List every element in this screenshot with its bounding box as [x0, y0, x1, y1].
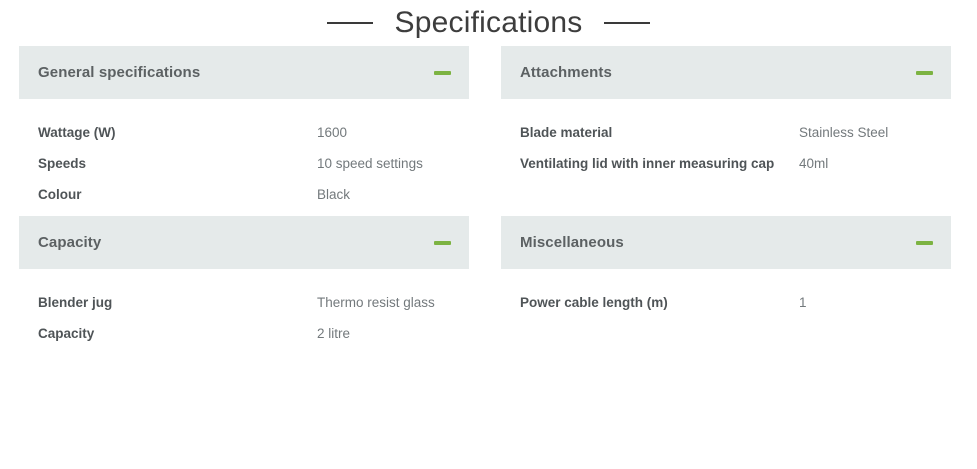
page-title: Specifications: [395, 6, 583, 40]
panel-title-attachments: Attachments: [520, 64, 612, 81]
minus-icon[interactable]: [916, 71, 933, 75]
panel-body-general-specifications: Wattage (W) 1600 Speeds 10 speed setting…: [19, 99, 469, 212]
minus-icon[interactable]: [916, 241, 933, 245]
panel-header-miscellaneous[interactable]: Miscellaneous: [501, 216, 951, 269]
spec-panel-miscellaneous: Miscellaneous Power cable length (m) 1: [501, 216, 951, 351]
spec-row: Colour Black: [19, 187, 469, 202]
title-rule-right-icon: [604, 22, 650, 24]
panel-title-general-specifications: General specifications: [38, 64, 200, 81]
spec-label: Ventilating lid with inner measuring cap: [520, 156, 799, 171]
spec-value: Stainless Steel: [799, 125, 888, 140]
spec-value: Thermo resist glass: [317, 295, 435, 310]
minus-icon[interactable]: [434, 71, 451, 75]
panel-body-miscellaneous: Power cable length (m) 1: [501, 269, 951, 320]
panel-title-miscellaneous: Miscellaneous: [520, 234, 624, 251]
title-rule-left-icon: [327, 22, 373, 24]
spec-row: Ventilating lid with inner measuring cap…: [501, 156, 951, 171]
spec-label: Capacity: [38, 326, 317, 341]
panel-header-general-specifications[interactable]: General specifications: [19, 46, 469, 99]
spec-label: Wattage (W): [38, 125, 317, 140]
spec-row: Power cable length (m) 1: [501, 295, 951, 310]
spec-row: Blender jug Thermo resist glass: [19, 295, 469, 310]
spec-row: Wattage (W) 1600: [19, 125, 469, 140]
spec-value: 10 speed settings: [317, 156, 423, 171]
spec-panel-attachments: Attachments Blade material Stainless Ste…: [501, 46, 951, 212]
spec-value: 1: [799, 295, 807, 310]
panel-header-attachments[interactable]: Attachments: [501, 46, 951, 99]
spec-value: Black: [317, 187, 350, 202]
spec-value: 2 litre: [317, 326, 350, 341]
specifications-grid: General specifications Wattage (W) 1600 …: [19, 46, 958, 355]
spec-row: Blade material Stainless Steel: [501, 125, 951, 140]
spec-row: Capacity 2 litre: [19, 326, 469, 341]
spec-label: Colour: [38, 187, 317, 202]
spec-panel-capacity: Capacity Blender jug Thermo resist glass…: [19, 216, 469, 351]
spec-panel-general-specifications: General specifications Wattage (W) 1600 …: [19, 46, 469, 212]
panel-body-attachments: Blade material Stainless Steel Ventilati…: [501, 99, 951, 181]
spec-label: Blender jug: [38, 295, 317, 310]
page-title-bar: Specifications: [0, 0, 977, 46]
panel-body-capacity: Blender jug Thermo resist glass Capacity…: [19, 269, 469, 351]
spec-label: Speeds: [38, 156, 317, 171]
spec-row: Speeds 10 speed settings: [19, 156, 469, 171]
panel-title-capacity: Capacity: [38, 234, 101, 251]
panel-header-capacity[interactable]: Capacity: [19, 216, 469, 269]
spec-value: 40ml: [799, 156, 828, 171]
spec-label: Blade material: [520, 125, 799, 140]
spec-label: Power cable length (m): [520, 295, 799, 310]
minus-icon[interactable]: [434, 241, 451, 245]
spec-value: 1600: [317, 125, 347, 140]
